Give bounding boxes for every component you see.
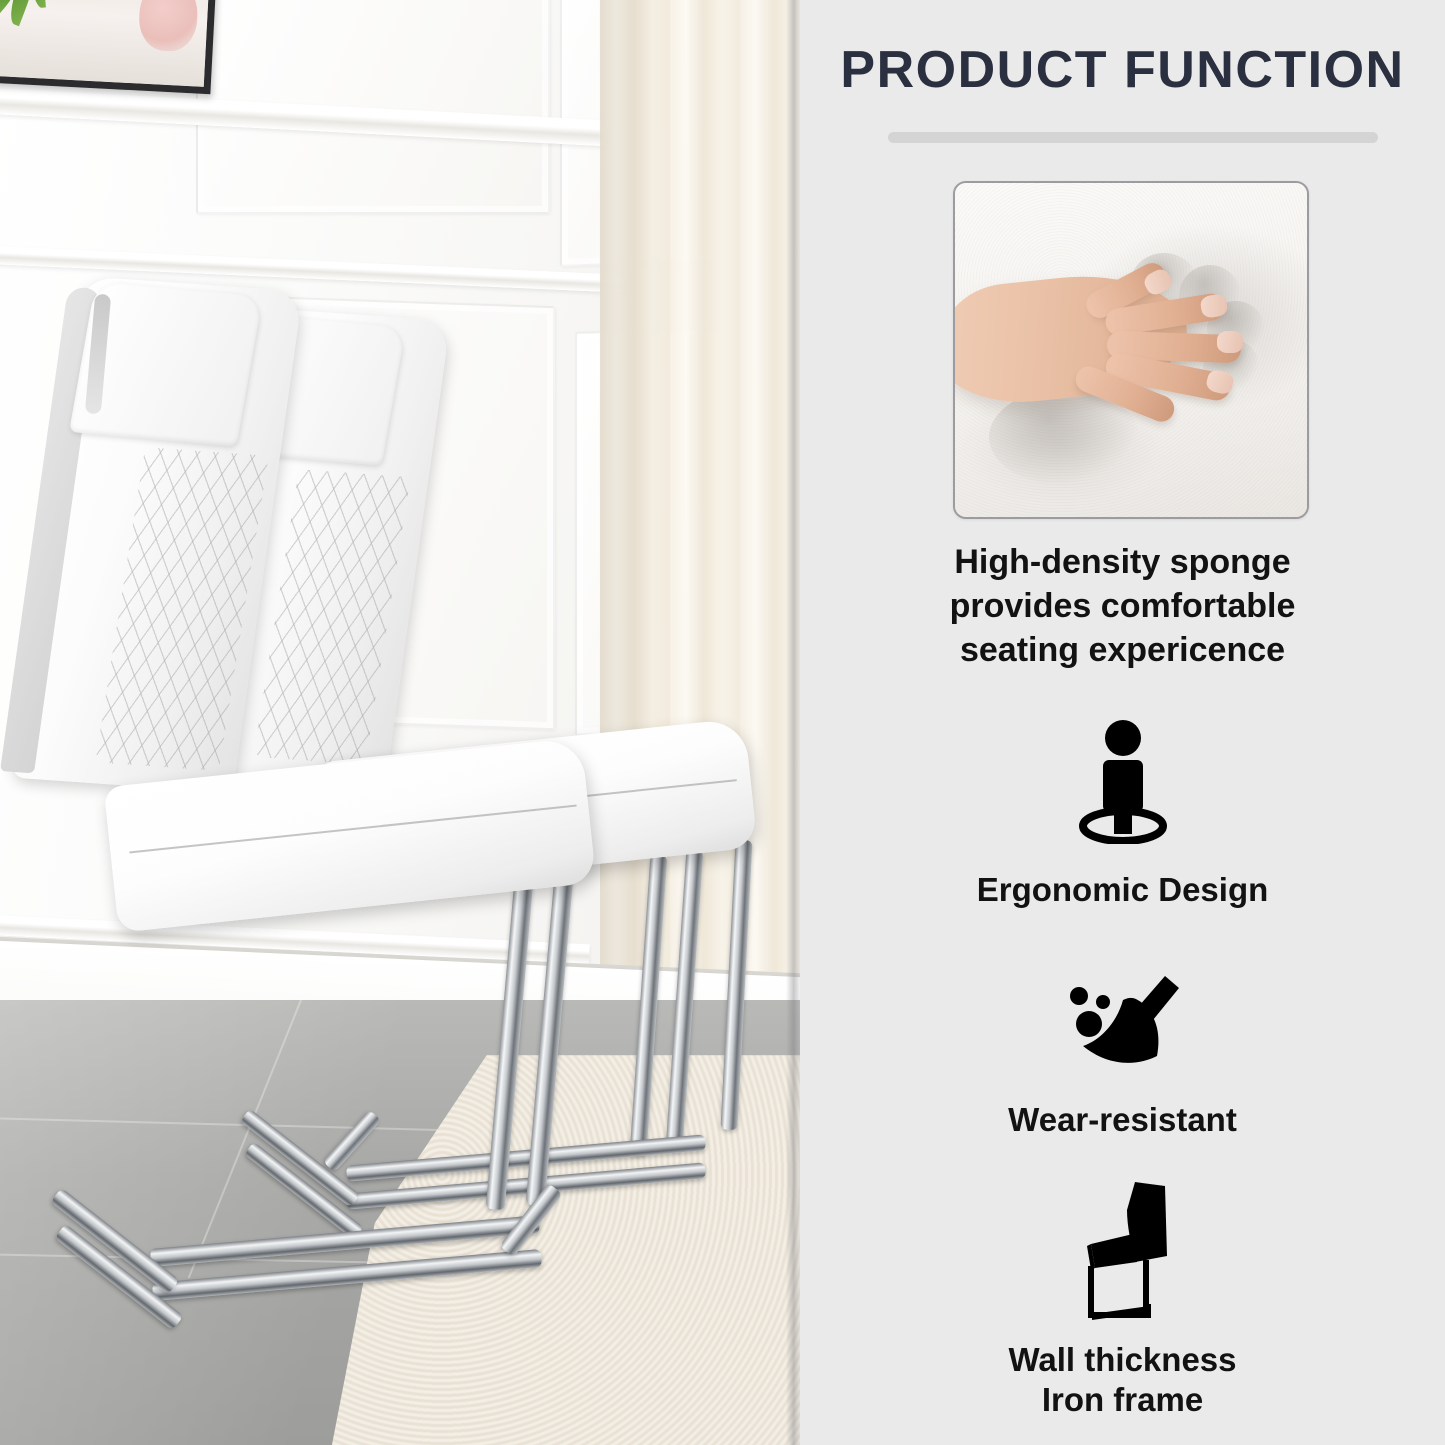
info-panel: PRODUCT FUNCTION High-density sponge p [800,0,1445,1445]
chair-silhouette-icon [800,1178,1445,1324]
sponge-caption: High-density sponge provides comfortable… [830,540,1415,673]
broom-with-dust-icon [800,972,1445,1072]
feature-wear-resistant: Wear-resistant [800,972,1445,1140]
person-in-circle-icon [800,718,1445,844]
fingernail [1217,331,1243,353]
product-photo [0,0,800,1445]
sponge-demo-image [953,181,1309,519]
photo-divider-shadow [786,0,800,1445]
page-title: PRODUCT FUNCTION [800,40,1445,100]
curtain-shadow [600,0,800,1095]
feature-label: Ergonomic Design [800,870,1445,910]
feature-label: Wear-resistant [800,1100,1445,1140]
feature-iron-frame: Wall thickness Iron frame [800,1178,1445,1421]
framed-picture [0,0,217,94]
product-infographic: PRODUCT FUNCTION High-density sponge p [0,0,1445,1445]
feature-ergonomic-design: Ergonomic Design [800,718,1445,910]
feature-label: Wall thickness Iron frame [800,1340,1445,1421]
title-divider-rule [888,132,1378,143]
